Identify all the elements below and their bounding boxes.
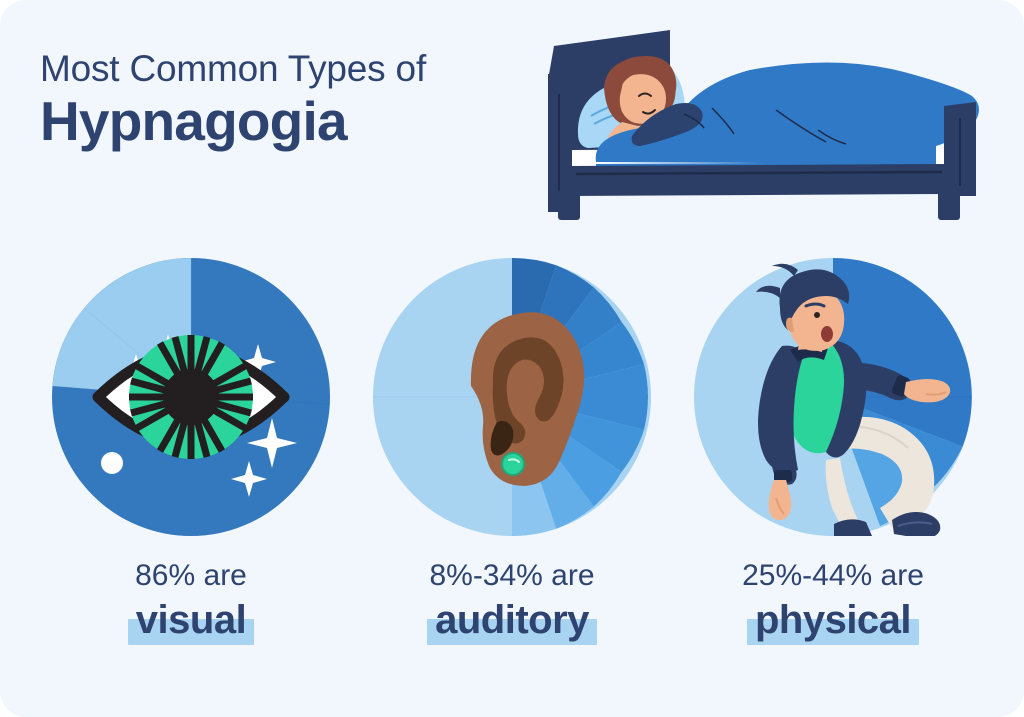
stat-block-physical: 25%-44% are physical <box>690 258 976 678</box>
stat-kind-auditory: auditory <box>433 598 591 642</box>
stat-kind-wrap-auditory: auditory <box>433 597 591 644</box>
woman-sleeping-in-bed-illustration <box>536 30 1006 226</box>
pie-chart-auditory <box>373 258 651 536</box>
stat-block-visual: 86% are visual <box>48 258 334 678</box>
stat-percent-physical: 25%-44% are <box>742 558 924 593</box>
stat-caption-auditory: 8%-34% are auditory <box>429 558 594 645</box>
stat-kind-physical: physical <box>753 598 913 642</box>
stat-block-auditory: 8%-34% are auditory <box>369 258 655 678</box>
stat-kind-visual: visual <box>134 598 248 642</box>
title-line-2: Hypnagogia <box>40 91 510 153</box>
stat-kind-wrap-physical: physical <box>753 597 913 644</box>
stats-row: 86% are visual <box>0 258 1024 678</box>
stat-caption-visual: 86% are visual <box>134 558 248 645</box>
stat-percent-auditory: 8%-34% are <box>429 558 594 593</box>
stat-caption-physical: 25%-44% are physical <box>742 558 924 645</box>
title-line-1: Most Common Types of <box>40 48 510 89</box>
pie-chart-physical <box>694 258 972 536</box>
page-title: Most Common Types of Hypnagogia <box>40 48 510 153</box>
stat-kind-wrap-visual: visual <box>134 597 248 644</box>
infographic-root: Most Common Types of Hypnagogia <box>0 0 1024 717</box>
pie-chart-visual <box>52 258 330 536</box>
stat-percent-visual: 86% are <box>134 558 248 593</box>
